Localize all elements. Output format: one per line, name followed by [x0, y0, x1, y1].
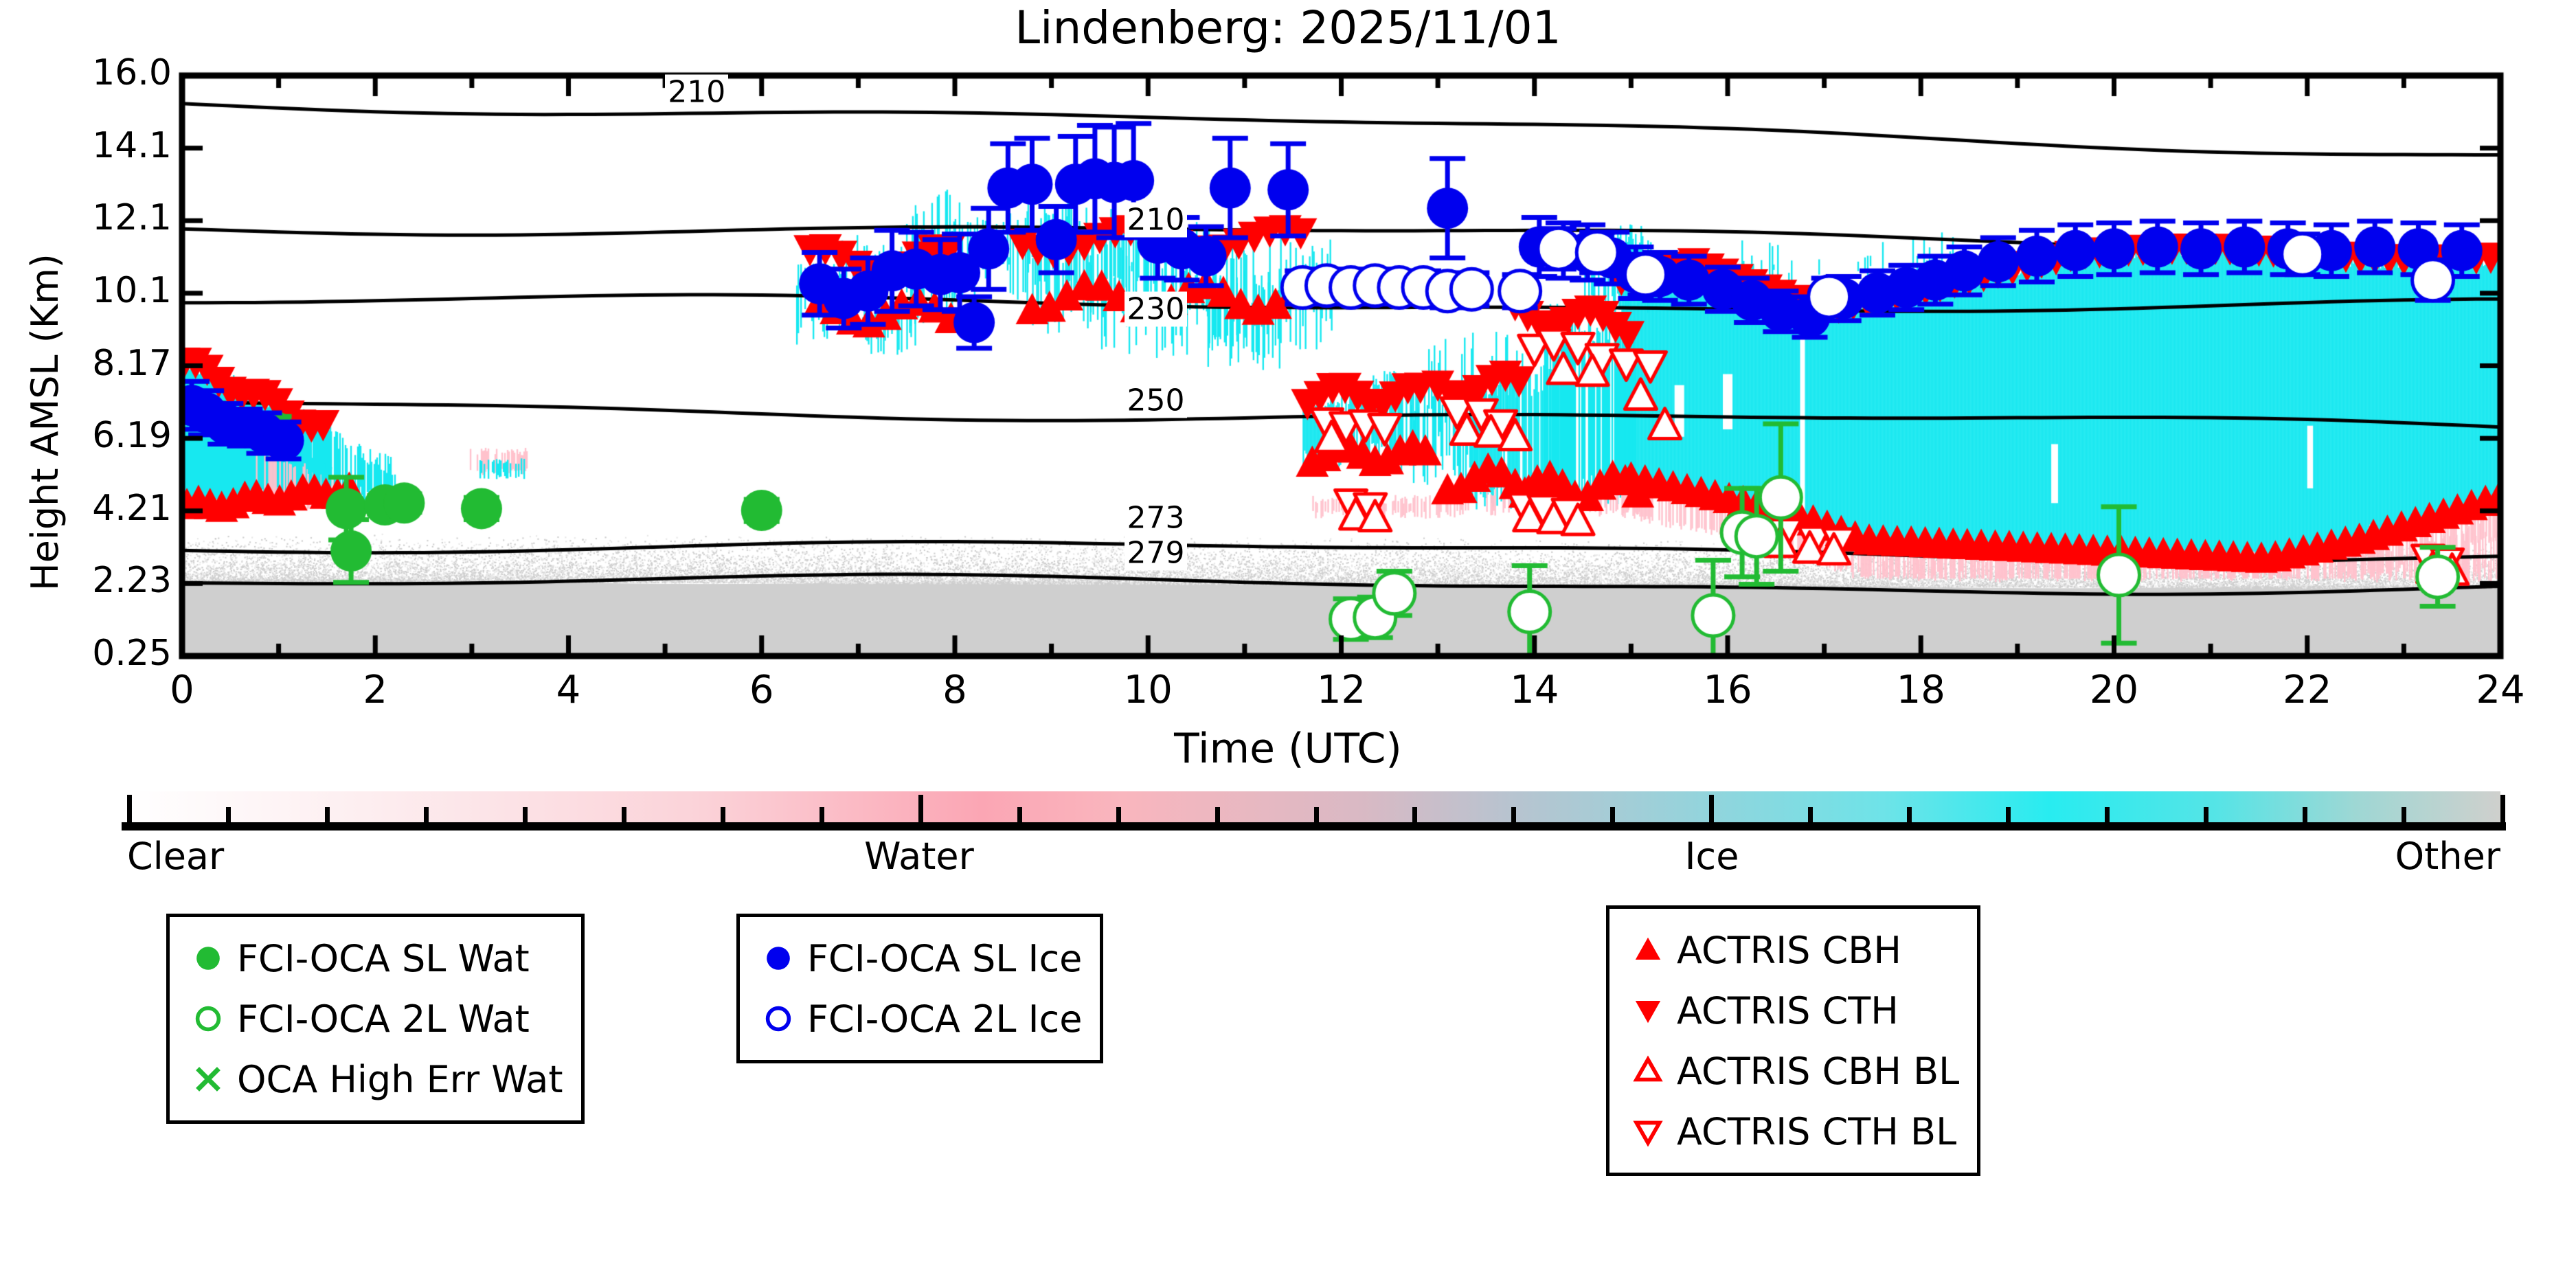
- open-triangle-down-icon: [1623, 1107, 1673, 1156]
- open-circle-icon: [183, 994, 233, 1043]
- legend-item-label: OCA High Err Wat: [237, 1058, 563, 1101]
- filled-triangle-down-icon: [1623, 986, 1673, 1035]
- colorbar-tick: [820, 807, 824, 822]
- y-tick-label: 10.1: [92, 273, 172, 308]
- legend-item: FCI-OCA 2L Ice: [754, 988, 1082, 1049]
- colorbar-axis-line: [122, 822, 2506, 831]
- legend-item: FCI-OCA 2L Wat: [183, 988, 563, 1049]
- colorbar-tick: [2402, 807, 2406, 822]
- colorbar-label-water: Water: [864, 835, 974, 878]
- isotherm-label: 210: [665, 74, 728, 109]
- colorbar-tick: [1511, 807, 1516, 822]
- y-tick-label: 0.25: [92, 635, 172, 671]
- y-tick-label: 2.23: [92, 563, 172, 598]
- colorbar-tick: [1907, 807, 1912, 822]
- colorbar-tick: [2303, 807, 2307, 822]
- colorbar-tick: [1709, 795, 1714, 822]
- x-tick-label: 4: [556, 668, 581, 712]
- x-tick-label: 20: [2090, 668, 2138, 712]
- colorbar-label-other: Other: [2395, 835, 2500, 878]
- legend-item: FCI-OCA SL Wat: [183, 928, 563, 988]
- isotherm-label: 230: [1125, 291, 1188, 326]
- colorbar-tick: [1017, 807, 1022, 822]
- page-title: Lindenberg: 2025/11/01: [0, 1, 2576, 54]
- x-tick-label: 12: [1317, 668, 1366, 712]
- open-circle-icon: [754, 994, 803, 1043]
- colorbar: [127, 791, 2500, 822]
- x-tick-label: 22: [2283, 668, 2331, 712]
- colorbar-tick: [1215, 807, 1220, 822]
- colorbar-tick: [523, 807, 528, 822]
- y-tick-label: 16.0: [92, 55, 172, 91]
- y-tick-label: 4.21: [92, 490, 172, 526]
- filled-triangle-up-icon: [1623, 925, 1673, 975]
- colorbar-tick: [1116, 807, 1121, 822]
- isotherm-label: 250: [1125, 383, 1188, 418]
- legend-item-label: FCI-OCA SL Wat: [237, 937, 530, 980]
- colorbar-tick: [1314, 807, 1319, 822]
- x-tick-label: 18: [1897, 668, 1945, 712]
- cross-icon: [183, 1054, 233, 1104]
- colorbar-tick: [622, 807, 626, 822]
- open-triangle-up-icon: [1623, 1046, 1673, 1096]
- legend-water-phase: FCI-OCA SL WatFCI-OCA 2L WatOCA High Err…: [166, 914, 585, 1124]
- legend-item-label: ACTRIS CBH BL: [1677, 1050, 1959, 1093]
- x-tick-label: 16: [1703, 668, 1752, 712]
- colorbar-tick: [1610, 807, 1615, 822]
- x-tick-label: 8: [942, 668, 967, 712]
- colorbar-tick: [325, 807, 330, 822]
- x-tick-label: 0: [170, 668, 194, 712]
- colorbar-tick: [2204, 807, 2208, 822]
- legend-item: OCA High Err Wat: [183, 1049, 563, 1109]
- x-axis-label: Time (UTC): [0, 725, 2576, 773]
- y-axis-label: Height AMSL (Km): [23, 253, 67, 591]
- y-tick-label: 8.17: [92, 346, 172, 381]
- colorbar-tick: [721, 807, 725, 822]
- colorbar-tick: [127, 795, 132, 822]
- colorbar-tick: [1808, 807, 1813, 822]
- colorbar-tick: [226, 807, 231, 822]
- colorbar-label-clear: Clear: [127, 835, 224, 878]
- legend-item: ACTRIS CTH: [1623, 980, 1959, 1041]
- legend-item: ACTRIS CBH: [1623, 920, 1959, 980]
- legend-item: ACTRIS CTH BL: [1623, 1101, 1959, 1162]
- y-tick-label: 6.19: [92, 418, 172, 453]
- colorbar-tick: [424, 807, 429, 822]
- legend-item-label: ACTRIS CTH: [1677, 989, 1899, 1032]
- colorbar-label-ice: Ice: [1685, 835, 1739, 878]
- legend-item-label: FCI-OCA SL Ice: [807, 937, 1082, 980]
- legend-actris: ACTRIS CBHACTRIS CTHACTRIS CBH BLACTRIS …: [1606, 905, 1980, 1176]
- filled-circle-icon: [183, 934, 233, 983]
- x-tick-label: 6: [749, 668, 774, 712]
- isotherm-label: 273: [1125, 500, 1188, 535]
- isotherm-label: 210: [1125, 202, 1188, 237]
- colorbar-tick: [918, 795, 923, 822]
- filled-circle-icon: [754, 934, 803, 983]
- colorbar-tick: [2500, 795, 2505, 822]
- y-tick-label: 12.1: [92, 200, 172, 236]
- y-tick-label: 14.1: [92, 128, 172, 163]
- legend-item-label: ACTRIS CTH BL: [1677, 1110, 1956, 1153]
- x-tick-label: 2: [363, 668, 387, 712]
- legend-item: ACTRIS CBH BL: [1623, 1041, 1959, 1101]
- x-tick-label: 10: [1124, 668, 1173, 712]
- x-tick-label: 24: [2476, 668, 2524, 712]
- legend-ice-phase: FCI-OCA SL IceFCI-OCA 2L Ice: [736, 914, 1103, 1063]
- colorbar-tick: [1412, 807, 1417, 822]
- chart-figure: Lindenberg: 2025/11/01 Height AMSL (Km) …: [0, 0, 2576, 1288]
- legend-item: FCI-OCA SL Ice: [754, 928, 1082, 988]
- legend-item-label: ACTRIS CBH: [1677, 929, 1901, 972]
- colorbar-tick: [2006, 807, 2011, 822]
- legend-item-label: FCI-OCA 2L Wat: [237, 997, 530, 1041]
- x-tick-label: 14: [1510, 668, 1559, 712]
- legend-item-label: FCI-OCA 2L Ice: [807, 997, 1082, 1041]
- colorbar-tick: [2105, 807, 2110, 822]
- isotherm-label: 279: [1125, 535, 1188, 570]
